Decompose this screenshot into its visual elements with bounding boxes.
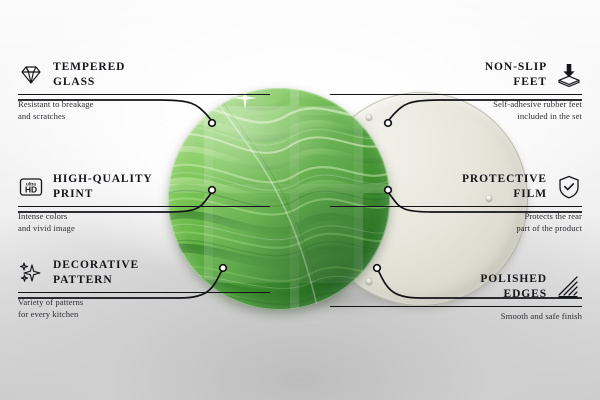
feature-header: DECORATIVE PATTERN	[18, 258, 270, 287]
feature-description: Smooth and safe finish	[330, 311, 582, 323]
feature-header: ultra HD HIGH-QUALITY PRINT	[18, 172, 270, 201]
feature-title: TEMPERED GLASS	[53, 60, 125, 89]
feature-polished-edges: POLISHED EDGES Smooth and safe finish	[330, 272, 582, 323]
feature-header: NON-SLIP FEET	[330, 60, 582, 89]
feature-desc-line1: Self-adhesive rubber feet	[330, 99, 582, 111]
feature-desc-line1: Resistant to breakage	[18, 99, 270, 111]
infographic-canvas: TEMPERED GLASS Resistant to breakage and…	[0, 0, 600, 400]
feature-header: POLISHED EDGES	[330, 272, 582, 301]
feature-title-line2: PATTERN	[53, 273, 139, 288]
feature-title-line1: POLISHED	[480, 272, 547, 287]
feature-divider	[18, 292, 270, 293]
feature-title: HIGH-QUALITY PRINT	[53, 172, 153, 201]
press-down-pad-icon	[556, 62, 582, 88]
feature-desc-line1: Intense colors	[18, 211, 270, 223]
feature-title-line2: EDGES	[480, 287, 547, 302]
feature-divider	[18, 94, 270, 95]
feature-title-line2: GLASS	[53, 75, 125, 90]
feature-desc-line2: and vivid image	[18, 223, 270, 235]
feature-title: DECORATIVE PATTERN	[53, 258, 139, 287]
feature-divider	[330, 206, 582, 207]
feature-desc-line1: Protects the rear	[330, 211, 582, 223]
feature-non-slip-feet: NON-SLIP FEET Self-adhesive rubber feet …	[330, 60, 582, 122]
ultra-hd-icon-large-text: HD	[25, 184, 37, 194]
feature-title-line1: TEMPERED	[53, 60, 125, 75]
ultra-hd-icon: ultra HD	[18, 174, 44, 200]
feature-desc-line2: for every kitchen	[18, 309, 270, 321]
feature-high-quality-print: ultra HD HIGH-QUALITY PRINT Intense colo…	[18, 172, 270, 234]
feature-desc-line2: part of the product	[330, 223, 582, 235]
feature-protective-film: PROTECTIVE FILM Protects the rear part o…	[330, 172, 582, 234]
feature-desc-line1: Variety of patterns	[18, 297, 270, 309]
feature-desc-line2: and scratches	[18, 111, 270, 123]
feature-title-line2: FEET	[485, 75, 547, 90]
feature-title-line1: PROTECTIVE	[462, 172, 547, 187]
sparkles-icon	[18, 260, 44, 286]
feature-description: Intense colors and vivid image	[18, 211, 270, 234]
diamond-icon	[18, 62, 44, 88]
feature-description: Protects the rear part of the product	[330, 211, 582, 234]
feature-title: PROTECTIVE FILM	[462, 172, 547, 201]
feature-divider	[330, 306, 582, 307]
feature-divider	[18, 206, 270, 207]
feature-header: PROTECTIVE FILM	[330, 172, 582, 201]
feature-header: TEMPERED GLASS	[18, 60, 270, 89]
feature-tempered-glass: TEMPERED GLASS Resistant to breakage and…	[18, 60, 270, 122]
feature-title-line2: PRINT	[53, 187, 153, 202]
feature-title: POLISHED EDGES	[480, 272, 547, 301]
feature-divider	[330, 94, 582, 95]
feature-title: NON-SLIP FEET	[485, 60, 547, 89]
feature-decorative-pattern: DECORATIVE PATTERN Variety of patterns f…	[18, 258, 270, 320]
feature-description: Self-adhesive rubber feet included in th…	[330, 99, 582, 122]
feature-desc-line2: included in the set	[330, 111, 582, 123]
feature-description: Resistant to breakage and scratches	[18, 99, 270, 122]
feature-title-line1: HIGH-QUALITY	[53, 172, 153, 187]
diagonal-lines-icon	[556, 274, 582, 300]
feature-title-line2: FILM	[462, 187, 547, 202]
feature-title-line1: DECORATIVE	[53, 258, 139, 273]
feature-title-line1: NON-SLIP	[485, 60, 547, 75]
feature-description: Variety of patterns for every kitchen	[18, 297, 270, 320]
leader-dot-polished-edges	[374, 265, 381, 272]
shield-check-icon	[556, 174, 582, 200]
feature-desc-line1: Smooth and safe finish	[330, 311, 582, 323]
